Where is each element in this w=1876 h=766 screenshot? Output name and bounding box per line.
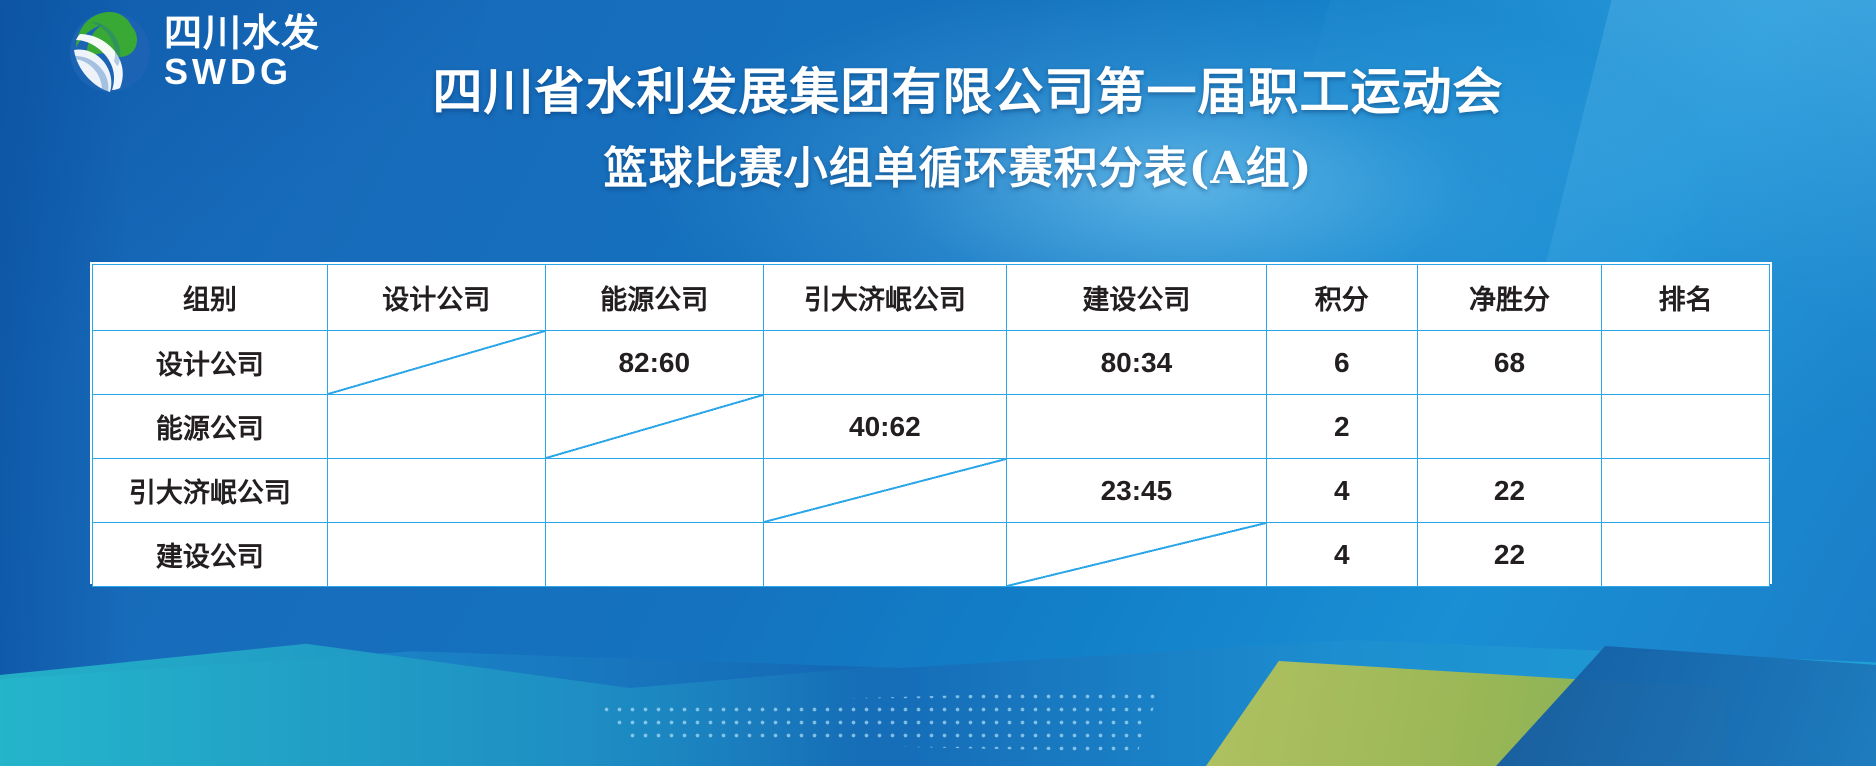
- rank-cell: [1602, 459, 1770, 523]
- score-cell: 80:34: [1006, 331, 1266, 395]
- score-cell: 23:45: [1006, 459, 1266, 523]
- standings-table-container: 组别 设计公司 能源公司 引大济岷公司 建设公司 积分 净胜分 排名 设计公司 …: [90, 262, 1772, 584]
- row-team-name: 建设公司: [93, 523, 328, 587]
- bottom-decorative-band: [0, 596, 1876, 766]
- point-diff-cell: 22: [1417, 459, 1601, 523]
- score-cell: [763, 459, 1006, 523]
- points-cell: 6: [1266, 331, 1417, 395]
- table-row: 建设公司 4 22: [93, 523, 1770, 587]
- score-cell: [1006, 523, 1266, 587]
- column-header-energy: 能源公司: [545, 265, 763, 331]
- score-cell: [327, 523, 545, 587]
- score-cell: [545, 523, 763, 587]
- score-cell: [545, 395, 763, 459]
- column-header-design: 设计公司: [327, 265, 545, 331]
- score-cell: [763, 331, 1006, 395]
- point-diff-cell: [1417, 395, 1601, 459]
- score-cell: [327, 459, 545, 523]
- score-cell: 40:62: [763, 395, 1006, 459]
- score-cell: [763, 523, 1006, 587]
- score-cell: [327, 395, 545, 459]
- table-row: 能源公司 40:62 2: [93, 395, 1770, 459]
- points-cell: 2: [1266, 395, 1417, 459]
- rank-cell: [1602, 523, 1770, 587]
- table-row: 引大济岷公司 23:45 4 22: [93, 459, 1770, 523]
- table-header-row: 组别 设计公司 能源公司 引大济岷公司 建设公司 积分 净胜分 排名: [93, 265, 1770, 331]
- score-cell: [1006, 395, 1266, 459]
- point-diff-cell: 68: [1417, 331, 1601, 395]
- row-team-name: 能源公司: [93, 395, 328, 459]
- poster-subtitle: 篮球比赛小组单循环赛积分表(A组): [0, 132, 1876, 196]
- column-header-rank: 排名: [1602, 265, 1770, 331]
- point-diff-cell: 22: [1417, 523, 1601, 587]
- row-team-name: 设计公司: [93, 331, 328, 395]
- column-header-point-diff: 净胜分: [1417, 265, 1601, 331]
- poster-stage: 四川水发 SWDG 四川省水利发展集团有限公司第一届职工运动会 篮球比赛小组单循…: [0, 0, 1876, 766]
- score-cell: [327, 331, 545, 395]
- rank-cell: [1602, 331, 1770, 395]
- poster-title: 四川省水利发展集团有限公司第一届职工运动会: [0, 52, 1876, 124]
- score-cell: 82:60: [545, 331, 763, 395]
- column-header-construction: 建设公司: [1006, 265, 1266, 331]
- logo-chinese-name: 四川水发: [164, 14, 320, 52]
- standings-table: 组别 设计公司 能源公司 引大济岷公司 建设公司 积分 净胜分 排名 设计公司 …: [92, 264, 1770, 587]
- points-cell: 4: [1266, 523, 1417, 587]
- row-team-name: 引大济岷公司: [93, 459, 328, 523]
- score-cell: [545, 459, 763, 523]
- column-header-group: 组别: [93, 265, 328, 331]
- points-cell: 4: [1266, 459, 1417, 523]
- column-header-points: 积分: [1266, 265, 1417, 331]
- rank-cell: [1602, 395, 1770, 459]
- table-row: 设计公司 82:60 80:34 6 68: [93, 331, 1770, 395]
- column-header-yindajimin: 引大济岷公司: [763, 265, 1006, 331]
